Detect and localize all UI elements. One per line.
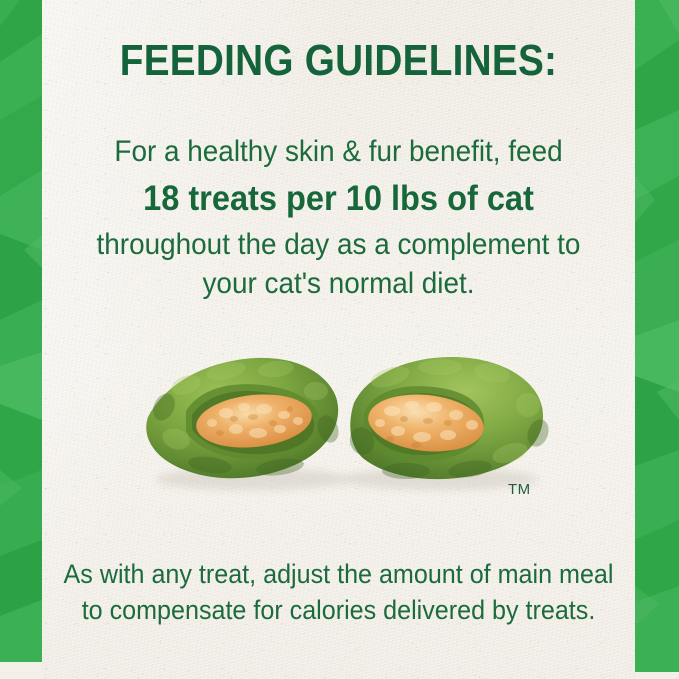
disclaimer-line-1: As with any treat, adjust the amount of … bbox=[63, 557, 614, 593]
feeding-instructions: For a healthy skin & fur benefit, feed 1… bbox=[42, 132, 635, 303]
instruction-dose-emphasis: 18 treats per 10 lbs of cat bbox=[63, 171, 614, 225]
calorie-disclaimer: As with any treat, adjust the amount of … bbox=[42, 557, 635, 629]
left-green-border bbox=[0, 0, 42, 662]
product-photo bbox=[140, 345, 550, 505]
feeding-guidelines-panel: FEEDING GUIDELINES: For a healthy skin &… bbox=[0, 0, 679, 679]
instruction-line-3: throughout the day as a complement to bbox=[63, 225, 614, 264]
left-border-pattern-icon bbox=[0, 0, 42, 662]
treat-half-right bbox=[346, 357, 550, 480]
instruction-line-1: For a healthy skin & fur benefit, feed bbox=[63, 132, 614, 171]
treat-half-left bbox=[146, 358, 342, 478]
trademark-symbol: TM bbox=[508, 481, 531, 498]
disclaimer-line-2: to compensate for calories delivered by … bbox=[63, 593, 614, 629]
right-green-border bbox=[635, 0, 679, 672]
page-title: FEEDING GUIDELINES: bbox=[78, 36, 600, 86]
cat-treats-image bbox=[140, 345, 550, 505]
right-border-pattern-icon bbox=[635, 0, 679, 672]
instruction-line-4: your cat's normal diet. bbox=[63, 264, 614, 303]
